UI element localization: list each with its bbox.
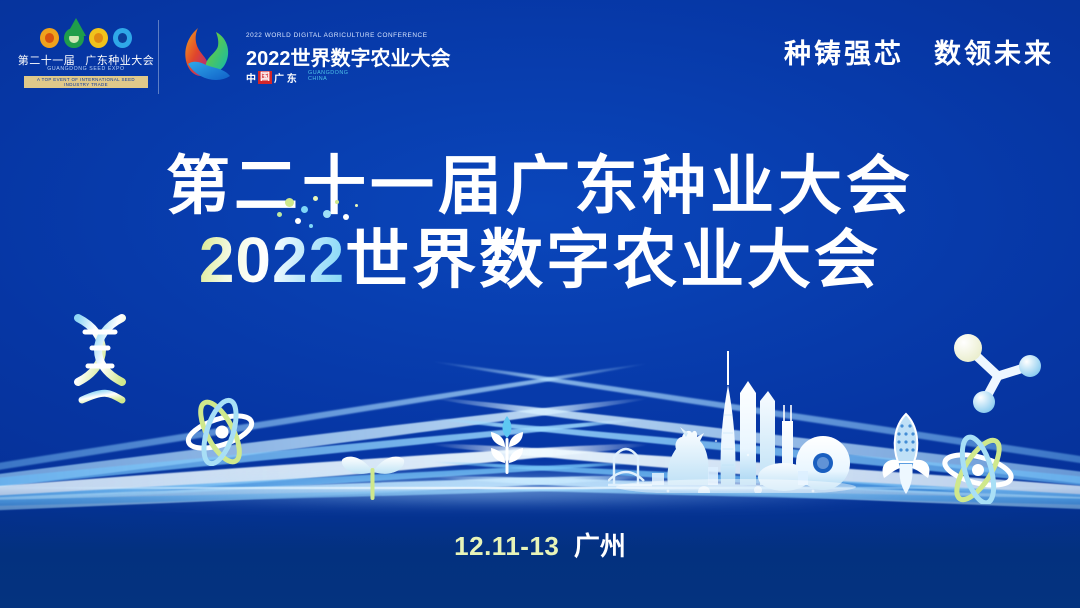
seed-tagline-label: A TOP EVENT OF INTERNATIONAL SEED INDUST…	[24, 76, 148, 88]
country-char-2: 国	[258, 71, 272, 84]
guangzhou-skyline	[608, 345, 858, 493]
world-digital-agriculture-conference-logo[interactable]: 2022 WORLD DIGITAL AGRICULTURE CONFERENC…	[176, 22, 356, 92]
blue-dot-icon	[113, 28, 132, 48]
conference-slogan: 种铸强芯 数领未来	[784, 32, 1054, 71]
orange-dot-icon	[40, 28, 59, 48]
yellow-dot-icon	[89, 28, 108, 48]
canton-tower	[721, 351, 736, 485]
seed-logo-dots	[40, 26, 132, 50]
wheat-icon	[485, 414, 529, 476]
five-rams-statue	[667, 427, 708, 485]
header-divider	[158, 20, 159, 94]
event-city: 广州	[574, 531, 626, 561]
country-char-1: 中	[246, 70, 256, 85]
wdac-location-badge: 中 国 广 东	[246, 70, 297, 85]
title-line-2: 2022世界数字农业大会	[199, 222, 881, 298]
main-title-block: 第二十一届广东种业大会 2022世界数字农业大会	[0, 150, 1080, 298]
title-line-2-text: 世界数字农业大会	[345, 224, 881, 296]
wdac-swoosh-icon	[176, 24, 240, 88]
seed-english-label: GUANGDONG SEED EXPO	[24, 66, 148, 72]
corn-icon	[878, 412, 934, 496]
poster-header: 第二十一届 广东种业大会 GUANGDONG SEED EXPO A TOP E…	[0, 0, 1080, 112]
title-line-1: 第二十一届广东种业大会	[0, 150, 1080, 222]
atom-icon-right	[938, 432, 1018, 504]
conference-poster: 第二十一届 广东种业大会 GUANGDONG SEED EXPO A TOP E…	[0, 0, 1080, 608]
wdac-chinese-title: 2022世界数字农业大会	[246, 42, 451, 71]
molecule-icon	[946, 332, 1042, 414]
event-date: 12.11-13	[454, 531, 559, 561]
ctf-finance-centre	[740, 381, 756, 485]
bridge	[608, 449, 652, 485]
wdac-english-title: 2022 WORLD DIGITAL AGRICULTURE CONFERENC…	[246, 32, 428, 39]
guangdong-seed-expo-logo[interactable]: 第二十一届 广东种业大会 GUANGDONG SEED EXPO A TOP E…	[24, 24, 148, 90]
wdac-location-english: GUANGDONG CHINA	[308, 70, 356, 82]
event-date-row: 12.11-13 广州	[0, 526, 1080, 563]
atom-icon-left	[181, 396, 259, 466]
particle-cluster-icon	[239, 196, 369, 240]
sprout-icon	[338, 440, 408, 502]
dna-helix-icon	[52, 304, 148, 414]
province-label: 广 东	[274, 70, 297, 85]
